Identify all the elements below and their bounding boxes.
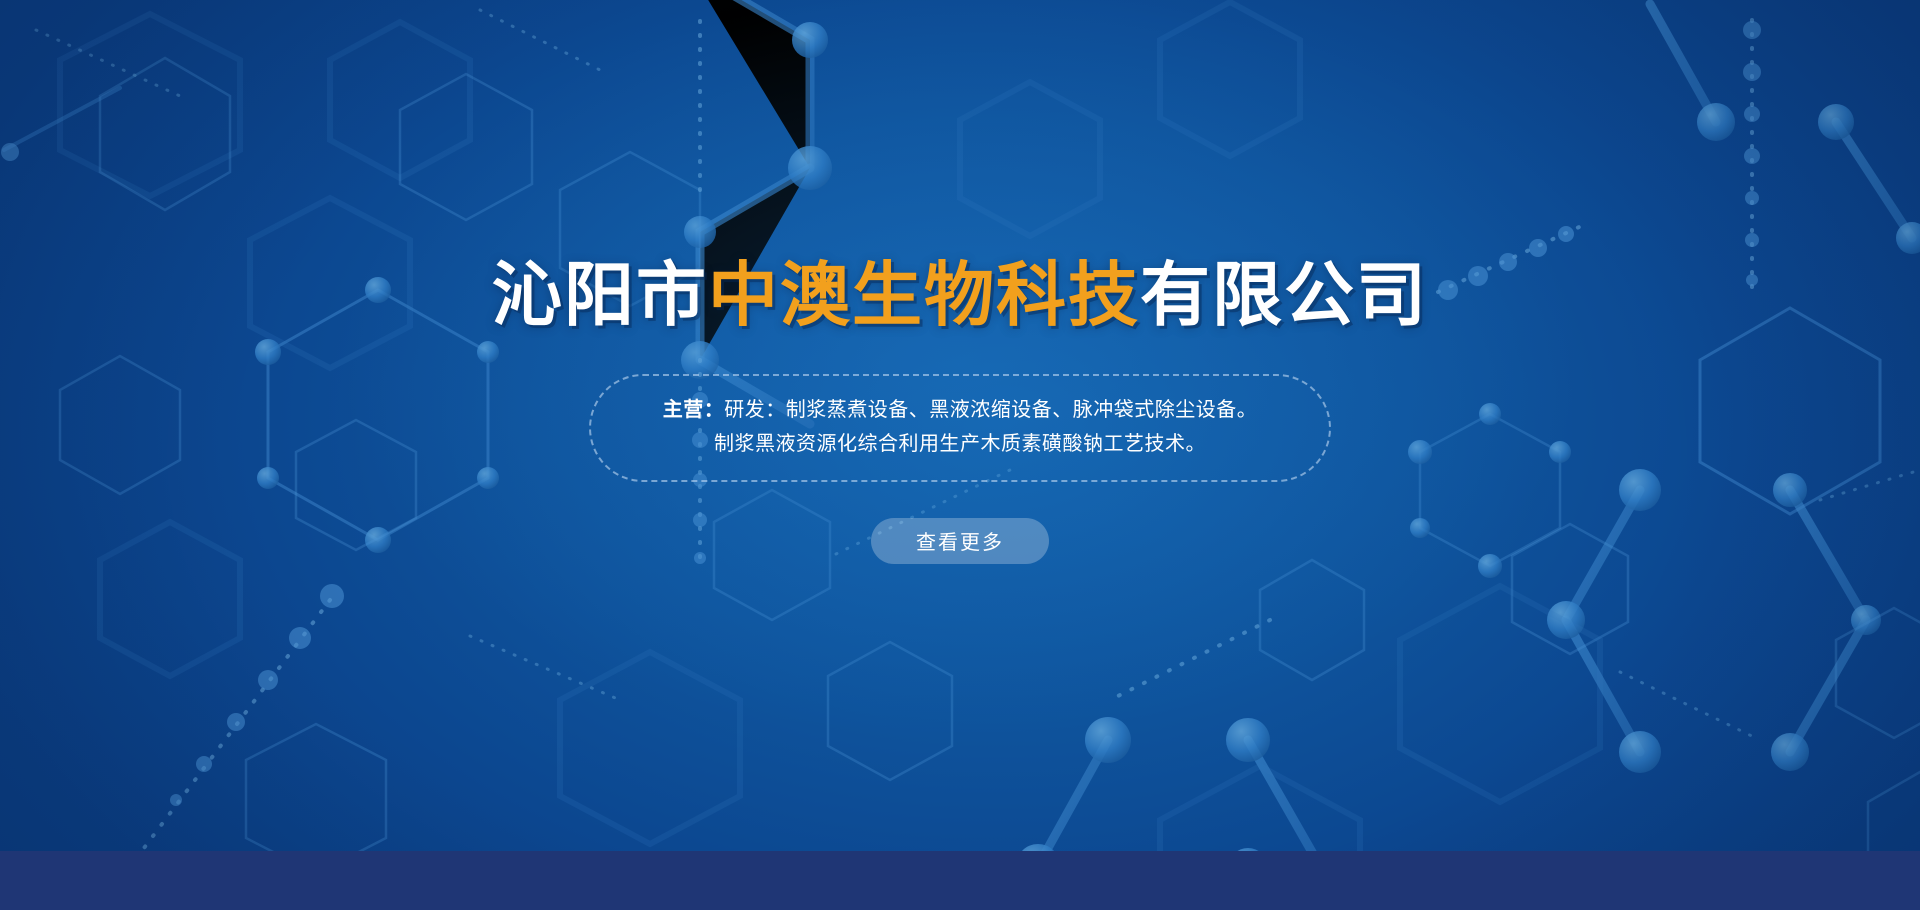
- tagline-line-1: 主营：研发：制浆蒸煮设备、黑液浓缩设备、脉冲袋式除尘设备。: [649, 393, 1271, 427]
- tagline-line-1-text: 研发：制浆蒸煮设备、黑液浓缩设备、脉冲袋式除尘设备。: [724, 399, 1257, 421]
- hero-content: 沁阳市中澳生物科技有限公司 主营：研发：制浆蒸煮设备、黑液浓缩设备、脉冲袋式除尘…: [0, 0, 1920, 851]
- title-accent: 中澳生物科技: [708, 256, 1140, 334]
- bottom-bar: [0, 851, 1920, 910]
- tagline-label: 主营：: [663, 399, 725, 421]
- hero-banner: .hexO{ fill:none; stroke:#3d86cc; stroke…: [0, 0, 1920, 910]
- title-suffix: 有限公司: [1140, 256, 1428, 334]
- view-more-button[interactable]: 查看更多: [871, 518, 1049, 564]
- title-prefix: 沁阳市: [492, 256, 708, 334]
- tagline-line-2: 制浆黑液资源化综合利用生产木质素磺酸钠工艺技术。: [649, 427, 1271, 461]
- page-title: 沁阳市中澳生物科技有限公司: [492, 260, 1428, 330]
- tagline-box: 主营：研发：制浆蒸煮设备、黑液浓缩设备、脉冲袋式除尘设备。 制浆黑液资源化综合利…: [589, 374, 1331, 482]
